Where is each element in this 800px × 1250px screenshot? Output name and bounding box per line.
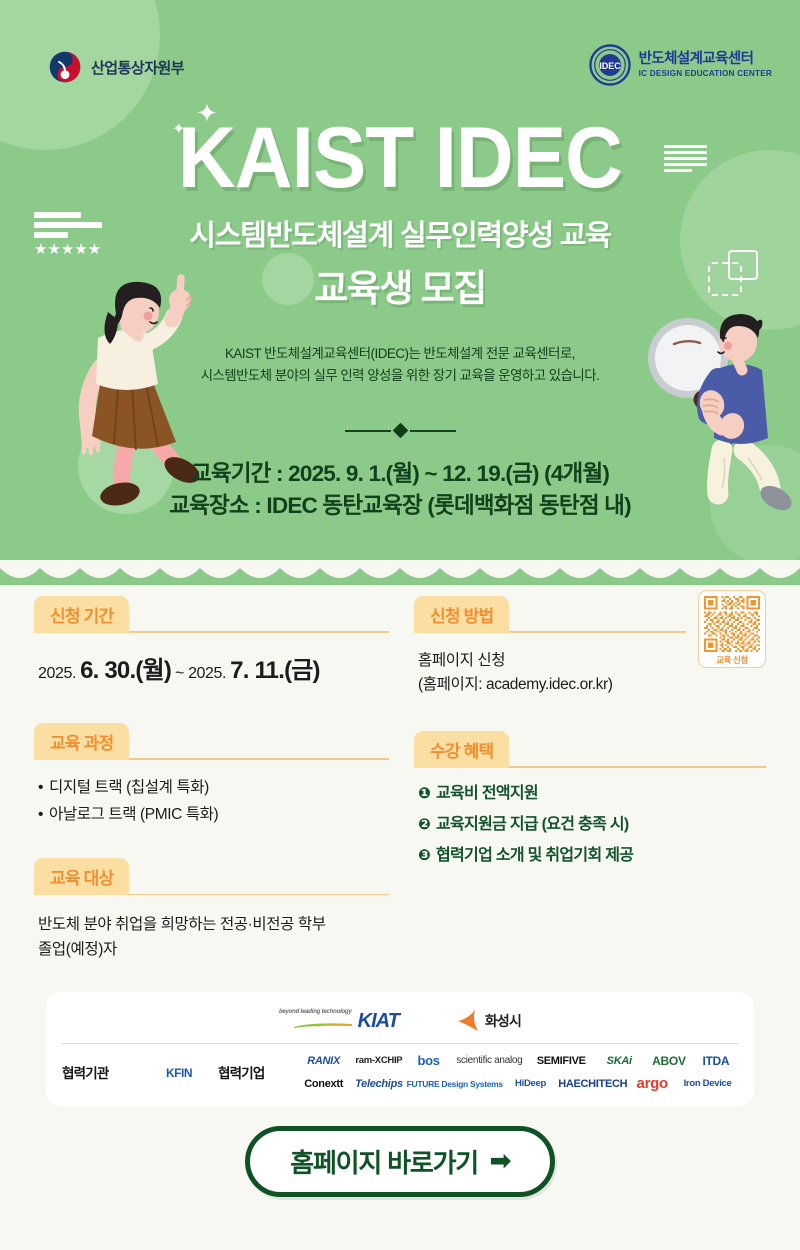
benefit-text-2: 교육지원금 지급 (요건 충족 시) <box>436 817 628 833</box>
list-item: ❶ 교육비 전액지원 <box>418 786 762 802</box>
qr-code-label: 교육 신청 <box>703 654 761 666</box>
company-logo-grid: RANIX ram-XCHIP bos scientific analog SE… <box>296 1053 738 1092</box>
section-apply-method: 신청 방법 <box>414 596 766 697</box>
logo-future-design-systems: FUTURE Design Systems <box>407 1079 503 1089</box>
page-subtitle-1: 시스템반도체설계 실무인력양성 교육 <box>0 212 800 254</box>
company-logo-row-1: RANIX ram-XCHIP bos scientific analog SE… <box>296 1053 738 1068</box>
apply-period-value: 2025. 6. 30.(월) ~ 2025. 7. 11.(금) <box>38 650 385 685</box>
tab-course: 교육 과정 <box>34 723 129 760</box>
qr-code-card[interactable]: 교육 신청 <box>698 590 766 668</box>
logo-abov: ABOV <box>644 1054 694 1068</box>
page-subtitle-2: 교육생 모집 <box>0 258 800 312</box>
tab-rule <box>129 758 389 760</box>
tab-benefits: 수강 혜택 <box>414 731 509 768</box>
benefit-number-3: ❸ <box>418 848 430 863</box>
arrow-right-icon: ➡ <box>490 1149 510 1174</box>
schedule-period: 교육기간 : 2025. 9. 1.(월) ~ 12. 19.(금) (4개월) <box>0 458 800 490</box>
tab-rule <box>509 766 766 768</box>
homepage-link-button[interactable]: 홈페이지 바로가기 ➡ <box>245 1126 555 1197</box>
diamond-divider <box>0 425 800 436</box>
target-line-2: 졸업(예정)자 <box>38 938 385 963</box>
section-course: 교육 과정 디지털 트랙 (칩설계 특화) 아날로그 트랙 (PMIC 특화) <box>34 723 389 828</box>
logo-ranix: RANIX <box>296 1055 351 1067</box>
tab-apply-method: 신청 방법 <box>414 596 509 633</box>
kiat-swoosh-icon <box>294 1023 352 1028</box>
hwaseong-wordmark: 화성시 <box>485 1011 521 1031</box>
right-column: 신청 방법 <box>414 596 766 879</box>
logo-semifive: SEMIFIVE <box>528 1055 594 1067</box>
section-benefits: 수강 혜택 ❶ 교육비 전액지원 ❷ 교육지원금 지급 (요건 충족 시) <box>414 731 766 864</box>
tab-rule <box>509 631 686 633</box>
partners-rows: 협력기관 KFIN 협력기업 RANIX ram-XCHIP bos scien… <box>62 1053 738 1092</box>
logo-scientific-analog: scientific analog <box>451 1055 528 1066</box>
logo-skai: SKAi <box>594 1055 644 1067</box>
intro-line-2: 시스템반도체 분야의 실무 인력 양성을 위한 장기 교육을 운영하고 있습니다… <box>0 365 800 387</box>
scallop-edge <box>0 560 800 585</box>
ministry-label: 산업통상자원부 <box>91 57 184 78</box>
intro-description: KAIST 반도체설계교육센터(IDEC)는 반도체설계 전문 교육센터로, 시… <box>0 343 800 386</box>
list-item: 디지털 트랙 (칩설계 특화) <box>38 775 385 802</box>
logo-bos: bos <box>407 1053 451 1068</box>
company-label-cell: 협력기업 <box>218 1062 296 1083</box>
logo-ramxchip: ram-XCHIP <box>351 1055 406 1066</box>
list-item: 아날로그 트랙 (PMIC 특화) <box>38 802 385 829</box>
target-line-1: 반도체 분야 취업을 희망하는 전공·비전공 학부 <box>38 913 385 938</box>
tab-rule <box>129 631 389 633</box>
intro-line-1: KAIST 반도체설계교육센터(IDEC)는 반도체설계 전문 교육센터로, <box>0 343 800 365</box>
schedule-block: 교육기간 : 2025. 9. 1.(월) ~ 12. 19.(금) (4개월)… <box>0 458 800 522</box>
idec-logo: IDEC 반도체설계교육센터 IC DESIGN EDUCATION CENTE… <box>589 44 772 86</box>
logo-hideep: HiDeep <box>503 1078 558 1089</box>
partners-card: beyond leading technology KIAT 화성시 <box>46 992 754 1106</box>
benefit-list: ❶ 교육비 전액지원 ❷ 교육지원금 지급 (요건 충족 시) ❸ 협력기업 소… <box>418 786 762 864</box>
logo-argo: argo <box>627 1075 677 1092</box>
tab-target: 교육 대상 <box>34 858 129 895</box>
logo-conextt: Conextt <box>296 1078 351 1090</box>
benefit-number-2: ❷ <box>418 817 430 832</box>
section-target: 교육 대상 반도체 분야 취업을 희망하는 전공·비전공 학부 졸업(예정)자 <box>34 858 389 963</box>
kfin-wordmark: KFIN <box>166 1066 192 1080</box>
kiat-logo: beyond leading technology KIAT <box>279 1009 399 1033</box>
logo-haechitech: HAECHITECH <box>558 1078 627 1090</box>
partner-org-label: 협력기관 <box>62 1066 108 1081</box>
org-label-cell: 협력기관 <box>62 1062 140 1083</box>
benefit-text-3: 협력기업 소개 및 취업기회 제공 <box>436 848 633 864</box>
idec-label-en: IC DESIGN EDUCATION CENTER <box>639 69 772 78</box>
list-item: ❸ 협력기업 소개 및 취업기회 제공 <box>418 848 762 864</box>
partners-divider <box>62 1043 738 1044</box>
target-description: 반도체 분야 취업을 희망하는 전공·비전공 학부 졸업(예정)자 <box>38 913 385 963</box>
hwaseong-logo: 화성시 <box>455 1008 521 1034</box>
hwaseong-star-icon <box>455 1008 481 1034</box>
logo-telechips: Telechips <box>351 1078 406 1090</box>
section-apply-period: 신청 기간 2025. 6. 30.(월) ~ 2025. 7. 11.(금) <box>34 596 389 685</box>
partner-company-label: 협력기업 <box>218 1066 264 1081</box>
taegeuk-icon <box>48 50 82 84</box>
ministry-logo: 산업통상자원부 <box>48 50 184 84</box>
left-column: 신청 기간 2025. 6. 30.(월) ~ 2025. 7. 11.(금) … <box>34 596 389 963</box>
kiat-wordmark: KIAT <box>358 1010 399 1033</box>
idec-emblem-icon: IDEC <box>589 44 631 86</box>
tab-rule <box>129 894 389 896</box>
list-item: ❷ 교육지원금 지급 (요건 충족 시) <box>418 817 762 833</box>
kfin-logo: KFIN <box>140 1064 218 1082</box>
svg-text:IDEC: IDEC <box>599 61 621 71</box>
poster-root: 산업통상자원부 IDEC 반도체설계교육센터 IC DESIGN EDUCATI… <box>0 0 800 1250</box>
tab-apply-period: 신청 기간 <box>34 596 129 633</box>
benefit-number-1: ❶ <box>418 786 430 801</box>
page-title: KAIST IDEC <box>28 115 772 201</box>
cta-wrapper: 홈페이지 바로가기 ➡ <box>0 1126 800 1197</box>
benefit-text-1: 교육비 전액지원 <box>436 786 538 802</box>
logo-iron-device: Iron Device <box>677 1078 738 1089</box>
qr-code-icon[interactable] <box>703 596 761 652</box>
course-track-list: 디지털 트랙 (칩설계 특화) 아날로그 트랙 (PMIC 특화) <box>38 775 385 828</box>
cta-label: 홈페이지 바로가기 <box>290 1143 478 1180</box>
schedule-place: 교육장소 : IDEC 동탄교육장 (롯데백화점 동탄점 내) <box>0 490 800 522</box>
company-logo-row-2: Conextt Telechips FUTURE Design Systems … <box>296 1075 738 1092</box>
partners-top-logos: beyond leading technology KIAT 화성시 <box>62 1004 738 1043</box>
apply-method-line-2[interactable]: (홈페이지: academy.idec.or.kr) <box>418 673 762 697</box>
logo-itda: ITDA <box>694 1054 738 1068</box>
idec-label-kr: 반도체설계교육센터 <box>639 52 772 68</box>
poster-header: 산업통상자원부 IDEC 반도체설계교육센터 IC DESIGN EDUCATI… <box>0 0 800 585</box>
kiat-tagline: beyond leading technology <box>279 1009 352 1015</box>
